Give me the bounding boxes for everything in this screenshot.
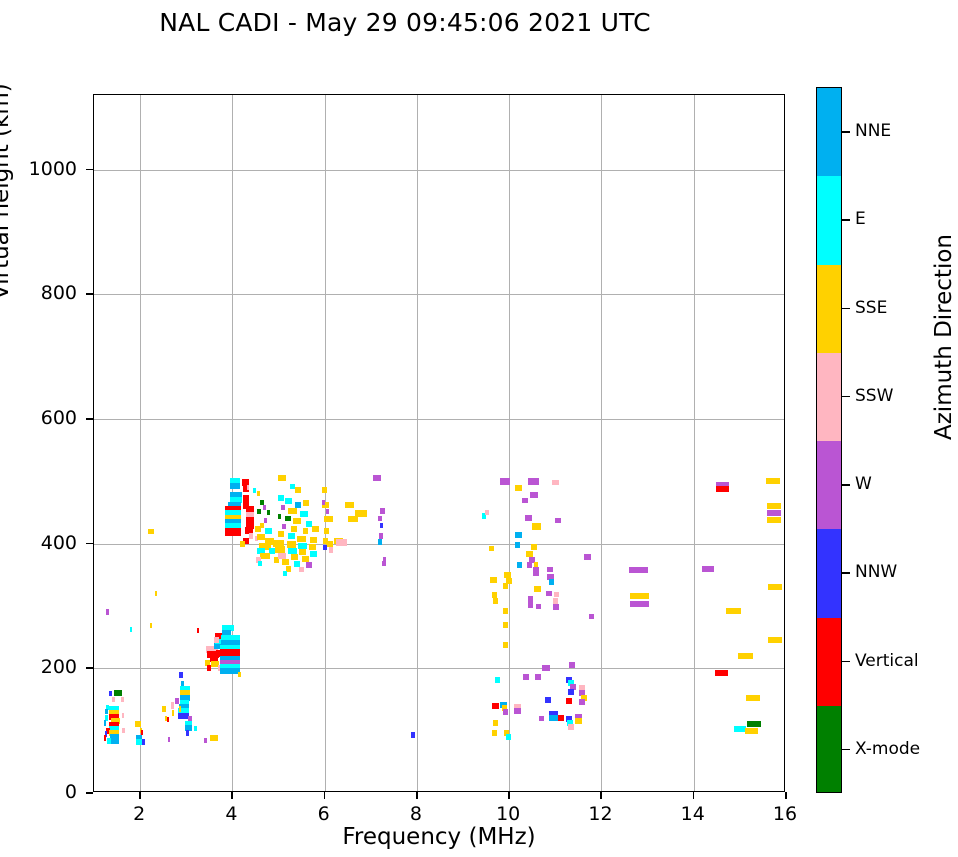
echo-mark bbox=[194, 726, 198, 731]
x-axis-tick-label: 4 bbox=[201, 805, 261, 824]
y-axis-tick bbox=[86, 169, 93, 171]
echo-mark bbox=[726, 608, 741, 614]
echo-mark bbox=[503, 622, 509, 628]
echo-mark bbox=[281, 505, 286, 510]
echo-mark bbox=[382, 561, 386, 566]
echo-mark bbox=[240, 541, 245, 547]
x-axis-tick bbox=[785, 792, 787, 799]
echo-mark bbox=[575, 718, 582, 724]
echo-mark bbox=[175, 698, 179, 704]
echo-mark bbox=[112, 697, 115, 702]
colorbar-label-nne: NNE bbox=[855, 123, 891, 140]
echo-mark bbox=[766, 478, 780, 484]
echo-mark bbox=[553, 604, 559, 610]
echo-mark bbox=[378, 539, 383, 545]
echo-mark bbox=[179, 672, 183, 678]
echo-mark bbox=[148, 529, 154, 534]
echo-mark bbox=[297, 536, 306, 542]
echo-mark bbox=[222, 630, 231, 635]
echo-mark bbox=[629, 567, 647, 573]
echo-mark bbox=[542, 665, 549, 671]
echo-mark bbox=[523, 674, 529, 680]
echo-mark bbox=[515, 485, 522, 491]
echo-mark bbox=[738, 653, 753, 659]
echo-mark bbox=[285, 516, 291, 521]
y-axis-tick bbox=[86, 418, 93, 420]
echo-mark bbox=[257, 534, 264, 540]
echo-mark bbox=[278, 553, 286, 559]
x-axis-tick-label: 14 bbox=[663, 805, 723, 824]
x-axis-tick-label: 6 bbox=[294, 805, 354, 824]
echo-mark bbox=[492, 703, 498, 709]
echo-mark bbox=[105, 709, 107, 714]
echo-mark bbox=[197, 628, 199, 633]
colorbar-title: Azimuth Direction bbox=[931, 234, 957, 440]
echo-mark bbox=[324, 528, 329, 534]
y-axis-label: Virtual height (km) bbox=[0, 83, 14, 300]
echo-mark bbox=[204, 738, 207, 743]
echo-mark bbox=[300, 511, 307, 517]
echo-mark bbox=[104, 720, 106, 726]
colorbar-label-e: E bbox=[855, 211, 866, 228]
y-axis-tick bbox=[86, 667, 93, 669]
colorbar-band-nne bbox=[817, 88, 841, 177]
echo-mark bbox=[104, 735, 106, 741]
echo-mark bbox=[503, 608, 509, 614]
y-axis-tick-label: 200 bbox=[0, 658, 77, 677]
echo-mark bbox=[546, 591, 552, 596]
echo-mark bbox=[500, 478, 510, 485]
echo-mark bbox=[107, 738, 111, 744]
colorbar-tick bbox=[842, 661, 850, 663]
echo-mark bbox=[555, 518, 561, 523]
x-axis-tick bbox=[693, 792, 695, 799]
echo-mark bbox=[514, 708, 520, 714]
x-axis-tick bbox=[508, 792, 510, 799]
echo-mark bbox=[380, 523, 383, 528]
echo-mark bbox=[283, 571, 288, 576]
echo-mark bbox=[171, 702, 174, 709]
echo-mark bbox=[515, 542, 521, 548]
colorbar-tick bbox=[842, 572, 850, 574]
echo-mark bbox=[767, 517, 781, 523]
echo-mark bbox=[549, 715, 557, 721]
echo-mark bbox=[293, 518, 300, 524]
echo-mark bbox=[121, 697, 123, 702]
echo-mark bbox=[503, 709, 509, 715]
echo-mark bbox=[225, 528, 241, 536]
x-axis-tick bbox=[139, 792, 141, 799]
echo-mark bbox=[257, 491, 260, 496]
echo-mark bbox=[257, 509, 261, 514]
echo-mark bbox=[186, 730, 189, 736]
colorbar-tick bbox=[842, 308, 850, 310]
echo-mark bbox=[558, 715, 564, 721]
x-axis-tick-label: 8 bbox=[386, 805, 446, 824]
echo-mark bbox=[525, 515, 531, 521]
echo-mark bbox=[288, 548, 296, 554]
echo-mark bbox=[373, 475, 381, 481]
echo-mark bbox=[504, 572, 510, 578]
x-axis-tick bbox=[600, 792, 602, 799]
echo-mark bbox=[533, 567, 539, 576]
echo-mark bbox=[322, 500, 325, 505]
echo-mark bbox=[530, 492, 538, 498]
echo-mark bbox=[214, 637, 220, 643]
colorbar-tick bbox=[842, 131, 850, 133]
echo-mark bbox=[378, 516, 382, 521]
azimuth-colorbar bbox=[816, 87, 842, 793]
echo-mark bbox=[702, 566, 714, 572]
echo-mark bbox=[310, 537, 316, 543]
echo-mark bbox=[167, 717, 169, 722]
echo-mark bbox=[579, 699, 585, 705]
colorbar-tick bbox=[842, 749, 850, 751]
echo-mark bbox=[295, 502, 301, 508]
echo-mark bbox=[249, 533, 254, 539]
echo-mark bbox=[230, 483, 240, 489]
echo-mark bbox=[142, 739, 145, 745]
echo-mark bbox=[553, 598, 558, 604]
colorbar-tick bbox=[842, 219, 850, 221]
echo-mark bbox=[302, 556, 308, 562]
colorbar-label-ssw: SSW bbox=[855, 388, 893, 405]
x-axis-tick-label: 10 bbox=[478, 805, 538, 824]
echo-mark bbox=[255, 526, 261, 532]
echo-mark bbox=[291, 554, 298, 560]
echo-mark bbox=[536, 604, 541, 609]
colorbar-label-vertical: Vertical bbox=[855, 653, 919, 670]
echo-mark bbox=[109, 691, 111, 696]
echo-mark bbox=[528, 478, 539, 485]
x-axis-label: Frequency (MHz) bbox=[93, 824, 785, 850]
echo-mark bbox=[503, 642, 508, 648]
echo-mark bbox=[734, 726, 746, 732]
echo-mark bbox=[345, 502, 354, 508]
echo-mark bbox=[172, 710, 174, 716]
echo-mark bbox=[515, 532, 521, 538]
echo-mark bbox=[554, 592, 559, 597]
echo-mark bbox=[326, 541, 332, 547]
y-axis-tick bbox=[86, 543, 93, 545]
echo-mark bbox=[288, 533, 295, 539]
echo-mark bbox=[106, 609, 109, 615]
echo-mark bbox=[549, 579, 555, 585]
echo-mark bbox=[584, 554, 590, 560]
echo-mark bbox=[747, 721, 761, 727]
echo-mark bbox=[323, 545, 327, 550]
echo-mark bbox=[566, 698, 572, 704]
echo-mark bbox=[768, 584, 782, 590]
x-axis-tick bbox=[324, 792, 326, 799]
echo-mark bbox=[260, 523, 264, 528]
echo-mark bbox=[288, 508, 296, 514]
echo-mark bbox=[493, 598, 498, 604]
echo-mark bbox=[329, 547, 334, 553]
echo-mark bbox=[528, 596, 534, 602]
echo-mark bbox=[114, 690, 122, 696]
echo-mark bbox=[210, 735, 217, 741]
echo-mark bbox=[715, 670, 728, 676]
colorbar-band-e bbox=[817, 176, 841, 265]
echo-mark bbox=[267, 510, 270, 515]
echo-mark bbox=[746, 695, 760, 701]
echo-mark bbox=[135, 721, 141, 727]
echo-mark bbox=[348, 516, 358, 522]
echo-mark bbox=[303, 528, 309, 534]
echo-mark bbox=[380, 508, 385, 514]
echo-mark bbox=[150, 623, 152, 628]
colorbar-tick bbox=[842, 396, 850, 398]
echo-mark bbox=[312, 526, 319, 532]
echo-mark bbox=[291, 526, 297, 532]
echo-mark bbox=[168, 737, 170, 742]
echo-mark bbox=[495, 677, 500, 683]
echo-mark bbox=[122, 713, 124, 718]
echo-mark bbox=[569, 662, 575, 668]
echo-mark bbox=[322, 487, 328, 493]
x-axis-tick-label: 12 bbox=[570, 805, 630, 824]
echo-mark bbox=[295, 487, 301, 493]
echo-mark bbox=[485, 510, 489, 515]
echo-mark bbox=[278, 514, 282, 519]
colorbar-band-x-mode bbox=[817, 706, 841, 793]
echo-mark bbox=[630, 593, 648, 599]
echo-mark bbox=[303, 500, 309, 506]
echo-mark bbox=[130, 627, 132, 632]
echo-mark bbox=[310, 551, 316, 557]
echo-mark bbox=[282, 559, 288, 565]
echo-mark bbox=[155, 591, 157, 596]
echo-mark bbox=[306, 562, 312, 568]
echo-mark bbox=[111, 738, 119, 744]
echo-mark bbox=[379, 533, 384, 539]
echo-mark bbox=[589, 614, 594, 619]
echo-mark bbox=[263, 505, 266, 510]
echo-mark bbox=[122, 728, 124, 733]
echo-mark bbox=[264, 518, 267, 523]
y-axis-tick bbox=[86, 792, 93, 794]
page-title: NAL CADI - May 29 09:45:06 2021 UTC bbox=[0, 8, 810, 37]
echo-mark bbox=[716, 486, 729, 492]
echo-mark bbox=[282, 524, 287, 529]
echo-mark bbox=[238, 672, 241, 677]
y-axis-tick bbox=[86, 293, 93, 295]
echo-mark bbox=[324, 516, 332, 522]
echo-mark bbox=[768, 637, 782, 643]
echo-mark bbox=[568, 724, 574, 730]
colorbar-band-vertical bbox=[817, 618, 841, 707]
echo-mark bbox=[411, 732, 415, 738]
colorbar-label-w: W bbox=[855, 476, 872, 493]
echo-mark bbox=[278, 531, 284, 537]
x-axis-tick-label: 16 bbox=[755, 805, 815, 824]
colorbar-band-ssw bbox=[817, 353, 841, 442]
echo-mark bbox=[506, 734, 511, 740]
echo-mark bbox=[522, 498, 528, 503]
echo-mark bbox=[490, 577, 496, 583]
echo-mark bbox=[492, 592, 498, 598]
echo-mark bbox=[568, 689, 574, 695]
echo-mark bbox=[527, 562, 533, 568]
echo-mark bbox=[630, 601, 648, 607]
echo-mark bbox=[539, 716, 544, 721]
echo-data-layer bbox=[94, 95, 784, 791]
y-axis-tick-label: 400 bbox=[0, 534, 77, 553]
echo-mark bbox=[767, 510, 781, 516]
echo-mark bbox=[493, 720, 499, 726]
echo-mark bbox=[745, 728, 758, 734]
echo-mark bbox=[489, 546, 495, 551]
x-axis-tick bbox=[416, 792, 418, 799]
echo-mark bbox=[552, 480, 559, 485]
colorbar-label-x-mode: X-mode bbox=[855, 741, 920, 758]
echo-mark bbox=[162, 706, 167, 712]
echo-mark bbox=[278, 495, 284, 501]
echo-mark bbox=[503, 583, 509, 589]
colorbar-label-sse: SSE bbox=[855, 300, 887, 317]
echo-mark bbox=[309, 544, 316, 550]
echo-mark bbox=[545, 697, 551, 703]
echo-mark bbox=[528, 602, 534, 608]
echo-mark bbox=[299, 549, 306, 555]
echo-mark bbox=[258, 561, 262, 566]
colorbar-band-sse bbox=[817, 265, 841, 354]
colorbar-tick bbox=[842, 484, 850, 486]
echo-mark bbox=[326, 509, 329, 514]
ionogram-plot-area bbox=[93, 94, 785, 792]
echo-mark bbox=[531, 544, 537, 550]
echo-mark bbox=[260, 553, 270, 559]
echo-mark bbox=[278, 475, 286, 481]
echo-mark bbox=[247, 485, 250, 490]
x-axis-tick bbox=[231, 792, 233, 799]
echo-mark bbox=[336, 539, 347, 546]
echo-mark bbox=[534, 586, 541, 592]
echo-mark bbox=[517, 562, 523, 568]
x-axis-tick-label: 2 bbox=[109, 805, 169, 824]
y-axis-tick-label: 0 bbox=[0, 783, 77, 802]
echo-mark bbox=[535, 674, 541, 680]
colorbar-band-w bbox=[817, 441, 841, 530]
echo-mark bbox=[265, 528, 271, 534]
echo-mark bbox=[285, 498, 292, 504]
echo-mark bbox=[298, 543, 306, 549]
colorbar-band-nnw bbox=[817, 529, 841, 618]
echo-mark bbox=[767, 503, 781, 509]
echo-mark bbox=[294, 561, 300, 567]
y-axis-tick-label: 600 bbox=[0, 409, 77, 428]
echo-mark bbox=[253, 488, 257, 493]
echo-mark bbox=[179, 706, 181, 712]
echo-mark bbox=[526, 551, 532, 557]
echo-mark bbox=[532, 523, 541, 530]
echo-mark bbox=[492, 730, 498, 736]
echo-mark bbox=[299, 567, 304, 572]
colorbar-label-nnw: NNW bbox=[855, 564, 897, 581]
echo-mark bbox=[547, 567, 553, 572]
